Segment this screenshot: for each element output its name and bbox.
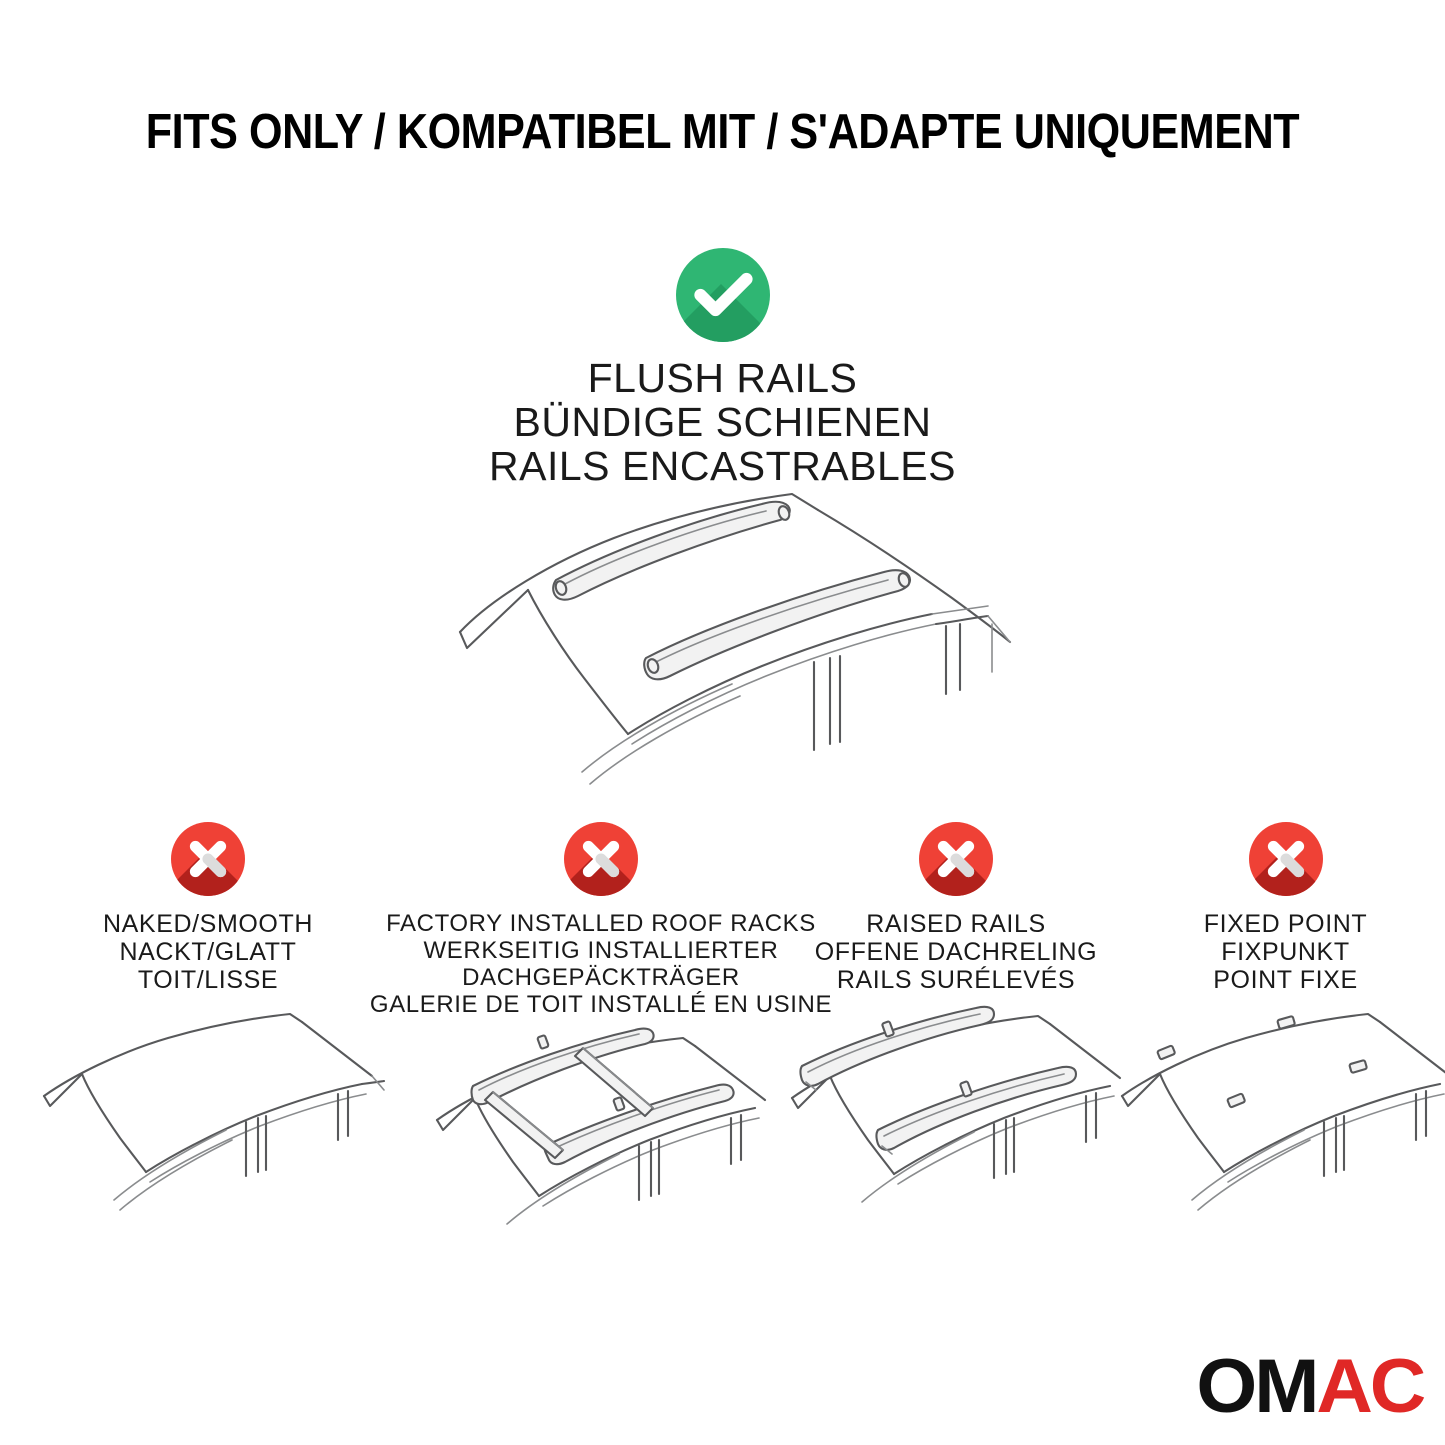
rejected-label-fr: POINT FIXE [1204,966,1368,994]
page-title: FITS ONLY / KOMPATIBEL MIT / S'ADAPTE UN… [87,104,1359,160]
check-glyph [676,248,770,342]
rejected-column-factory-rack: FACTORY INSTALLED ROOF RACKS WERKSEITIG … [416,822,786,1233]
rejected-label-de: NACKT/GLATT [103,938,313,966]
x-circle-icon [1249,822,1323,896]
rejected-labels: FIXED POINT FIXPUNKT POINT FIXE [1204,910,1368,994]
x-glyph [919,822,993,896]
rejected-labels: RAISED RAILS OFFENE DACHRELING RAILS SUR… [815,910,1097,994]
rejected-column-naked: NAKED/SMOOTH NACKT/GLATT TOIT/LISSE [0,822,416,1233]
car-roof-factory-rack-illustration [421,1018,781,1233]
rejected-labels: FACTORY INSTALLED ROOF RACKS WERKSEITIG … [370,910,832,1018]
x-glyph [171,822,245,896]
fitment-info-graphic: FITS ONLY / KOMPATIBEL MIT / S'ADAPTE UN… [0,0,1445,1445]
rejected-label-de-2: DACHGEPÄCKTRÄGER [370,964,832,991]
approved-fitment-section: FLUSH RAILS BÜNDIGE SCHIENEN RAILS ENCAS… [0,248,1445,488]
check-circle-icon [676,248,770,342]
rejected-column-raised-rails: RAISED RAILS OFFENE DACHRELING RAILS SUR… [786,822,1126,1233]
rejected-label-fr: RAILS SURÉLEVÉS [815,966,1097,994]
car-roof-flush-rails-illustration [432,472,1032,792]
rejected-label-en: NAKED/SMOOTH [103,910,313,938]
rejected-label-en: FACTORY INSTALLED ROOF RACKS [370,910,832,937]
rejected-label-de-1: WERKSEITIG INSTALLIERTER [370,937,832,964]
car-roof-naked-illustration [28,1004,388,1219]
rejected-label-en: FIXED POINT [1204,910,1368,938]
logo-text-ac: AC [1316,1344,1423,1429]
rejected-label-de: FIXPUNKT [1204,938,1368,966]
approved-labels: FLUSH RAILS BÜNDIGE SCHIENEN RAILS ENCAS… [0,356,1445,488]
rejected-column-fixed-point: FIXED POINT FIXPUNKT POINT FIXE [1126,822,1445,1233]
x-glyph [564,822,638,896]
x-circle-icon [564,822,638,896]
x-circle-icon [171,822,245,896]
rejected-label-fr: GALERIE DE TOIT INSTALLÉ EN USINE [370,991,832,1018]
approved-label-en: FLUSH RAILS [0,356,1445,400]
rejected-label-de: OFFENE DACHRELING [815,938,1097,966]
car-roof-fixed-point-illustration [1106,1004,1445,1219]
rejected-label-fr: TOIT/LISSE [103,966,313,994]
approved-label-de: BÜNDIGE SCHIENEN [0,400,1445,444]
rejected-labels: NAKED/SMOOTH NACKT/GLATT TOIT/LISSE [103,910,313,994]
x-glyph [1249,822,1323,896]
rejected-label-en: RAISED RAILS [815,910,1097,938]
x-circle-icon [919,822,993,896]
rejected-fitments-row: NAKED/SMOOTH NACKT/GLATT TOIT/LISSE [0,822,1445,1233]
car-roof-raised-rails-illustration [776,994,1136,1209]
logo-text-om: OM [1196,1344,1316,1429]
omac-logo: OMAC [1196,1349,1423,1425]
